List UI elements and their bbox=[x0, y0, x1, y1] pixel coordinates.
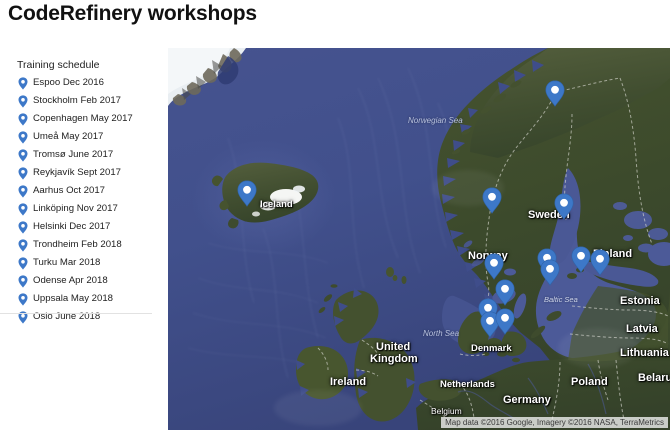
map-marker-pin[interactable] bbox=[495, 279, 515, 306]
schedule-item-label: Linköping Nov 2017 bbox=[33, 203, 118, 214]
schedule-item-label: Uppsala May 2018 bbox=[33, 293, 113, 304]
schedule-item-label: Espoo Dec 2016 bbox=[33, 77, 104, 88]
map-pin-icon bbox=[18, 95, 28, 108]
schedule-item[interactable]: Linköping Nov 2017 bbox=[0, 200, 168, 218]
schedule-item[interactable]: Oslo June 2018 bbox=[0, 308, 168, 326]
map-marker-pin[interactable] bbox=[495, 308, 515, 335]
schedule-item-label: Aarhus Oct 2017 bbox=[33, 185, 105, 196]
map-pin-icon bbox=[18, 113, 28, 126]
schedule-item[interactable]: Espoo Dec 2016 bbox=[0, 74, 168, 92]
schedule-item[interactable]: Helsinki Dec 2017 bbox=[0, 218, 168, 236]
sidebar: Training schedule Espoo Dec 2016Stockhol… bbox=[0, 48, 168, 430]
map-pin-icon bbox=[18, 275, 28, 288]
map-marker-pin[interactable] bbox=[554, 193, 574, 220]
map-pin-icon bbox=[18, 77, 28, 90]
map-marker-pin[interactable] bbox=[571, 246, 591, 273]
map-pin-icon bbox=[18, 239, 28, 252]
schedule-item-label: Stockholm Feb 2017 bbox=[33, 95, 121, 106]
map-pin-icon bbox=[18, 167, 28, 180]
page-root: CodeRefinery workshops Training schedule… bbox=[0, 0, 670, 430]
map-pin-icon bbox=[18, 221, 28, 234]
schedule-item[interactable]: Trondheim Feb 2018 bbox=[0, 236, 168, 254]
sidebar-heading: Training schedule bbox=[17, 59, 100, 71]
map-pin-icon bbox=[18, 293, 28, 306]
map-pin-icon bbox=[18, 149, 28, 162]
schedule-item[interactable]: Reykjavík Sept 2017 bbox=[0, 164, 168, 182]
schedule-item[interactable]: Tromsø June 2017 bbox=[0, 146, 168, 164]
schedule-item-label: Umeå May 2017 bbox=[33, 131, 103, 142]
map-pin-icon bbox=[18, 203, 28, 216]
schedule-item-label: Odense Apr 2018 bbox=[33, 275, 108, 286]
schedule-item[interactable]: Uppsala May 2018 bbox=[0, 290, 168, 308]
map-pin-icon bbox=[18, 257, 28, 270]
sidebar-divider bbox=[0, 313, 152, 314]
schedule-item[interactable]: Stockholm Feb 2017 bbox=[0, 92, 168, 110]
map-marker-pin[interactable] bbox=[545, 80, 565, 107]
schedule-item-label: Copenhagen May 2017 bbox=[33, 113, 133, 124]
schedule-item-label: Reykjavík Sept 2017 bbox=[33, 167, 121, 178]
schedule-item[interactable]: Aarhus Oct 2017 bbox=[0, 182, 168, 200]
map-marker-pin[interactable] bbox=[540, 259, 560, 286]
schedule-item-label: Tromsø June 2017 bbox=[33, 149, 113, 160]
map-attribution: Map data ©2016 Google, Imagery ©2016 NAS… bbox=[441, 417, 668, 428]
map-pin-icon bbox=[18, 131, 28, 144]
schedule-item-label: Trondheim Feb 2018 bbox=[33, 239, 122, 250]
schedule-item-label: Helsinki Dec 2017 bbox=[33, 221, 110, 232]
map-marker-pin[interactable] bbox=[482, 187, 502, 214]
map-marker-pin[interactable] bbox=[484, 253, 504, 280]
schedule-item[interactable]: Odense Apr 2018 bbox=[0, 272, 168, 290]
map-viewport[interactable]: Norwegian SeaNorth SeaBaltic Sea Iceland… bbox=[168, 48, 670, 430]
map-marker-pin[interactable] bbox=[590, 249, 610, 276]
schedule-item[interactable]: Copenhagen May 2017 bbox=[0, 110, 168, 128]
map-marker-pin[interactable] bbox=[237, 180, 257, 207]
schedule-item[interactable]: Umeå May 2017 bbox=[0, 128, 168, 146]
schedule-item[interactable]: Turku Mar 2018 bbox=[0, 254, 168, 272]
schedule-item-label: Turku Mar 2018 bbox=[33, 257, 100, 268]
training-schedule-list: Espoo Dec 2016Stockholm Feb 2017Copenhag… bbox=[0, 74, 168, 326]
page-title: CodeRefinery workshops bbox=[8, 2, 257, 26]
map-pin-icon bbox=[18, 185, 28, 198]
map-satellite-imagery bbox=[168, 48, 670, 430]
